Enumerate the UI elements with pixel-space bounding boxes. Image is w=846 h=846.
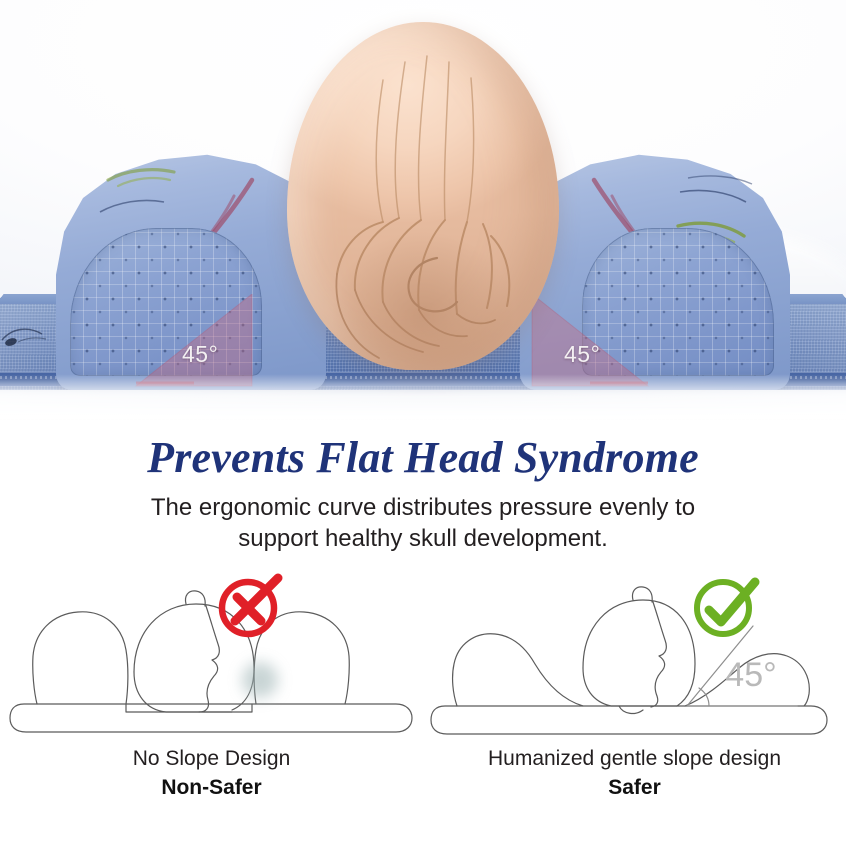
angle-label-safer: 45° (725, 656, 776, 694)
bolster-left: 45° (56, 150, 326, 400)
bolster-right: 45° (520, 150, 790, 400)
angle-label-right: 45° (564, 341, 600, 368)
verdict-label-left: Non-Safer (0, 775, 423, 801)
comparison-option-non-safer: No Slope Design Non-Safer (0, 560, 423, 846)
check-circle-icon (687, 568, 763, 644)
baby-head-shading (287, 22, 559, 370)
caption-safer: Humanized gentle slope design Safer (423, 746, 846, 802)
product-infographic: 45° (0, 0, 846, 846)
copy-block: Prevents Flat Head Syndrome The ergonomi… (0, 420, 846, 570)
subtitle-line-2: support healthy skull development. (83, 523, 763, 554)
hero-photo: 45° (0, 0, 846, 420)
caption-label-right: Humanized gentle slope design (423, 746, 846, 772)
page-title: Prevents Flat Head Syndrome (0, 434, 846, 482)
mat-brand-logo-icon (0, 318, 58, 354)
comparison-option-safer: 45° Humanized gentle slope design Safer (423, 560, 846, 846)
verdict-label-right: Safer (423, 775, 846, 801)
diagram-gentle-slope: 45° (423, 560, 846, 740)
subtitle: The ergonomic curve distributes pressure… (83, 492, 763, 554)
baby-head (287, 22, 559, 370)
subtitle-line-1: The ergonomic curve distributes pressure… (83, 492, 763, 523)
angle-label-left: 45° (182, 341, 218, 368)
x-circle-icon (212, 568, 288, 644)
caption-label-left: No Slope Design (0, 746, 423, 772)
photo-bottom-fade (0, 374, 846, 420)
caption-non-safer: No Slope Design Non-Safer (0, 746, 423, 802)
comparison-row: No Slope Design Non-Safer (0, 560, 846, 846)
